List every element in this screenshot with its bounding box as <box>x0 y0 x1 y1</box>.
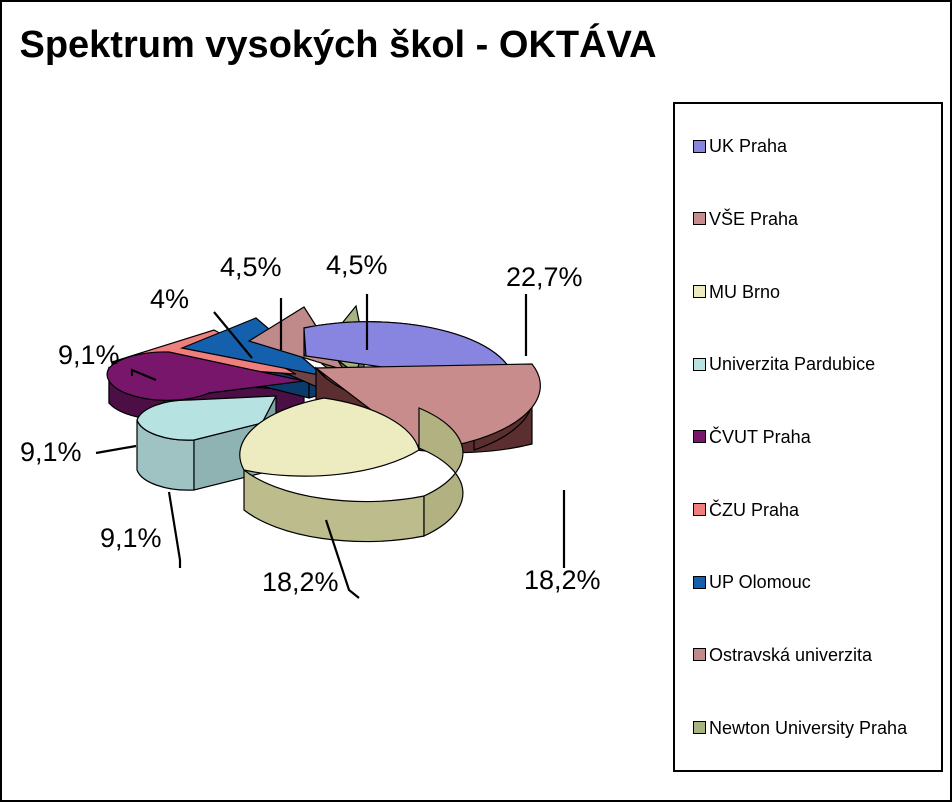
legend-item-uk-praha[interactable]: UK Praha <box>675 133 941 159</box>
slice-mu-brno <box>240 398 463 542</box>
legend-swatch-icon-uk-praha <box>693 140 706 153</box>
legend-item-cvut-praha[interactable]: ČVUT Praha <box>675 424 941 450</box>
legend-label-mu-brno: MU Brno <box>709 283 780 301</box>
legend-item-ostravska-univerzita[interactable]: Ostravská univerzita <box>675 642 941 668</box>
legend-label-czu-praha: ČZU Praha <box>709 501 799 519</box>
pie-chart-svg <box>4 98 672 798</box>
legend-label-uk-praha: UK Praha <box>709 137 787 155</box>
legend-swatch-icon-up-olomouc <box>693 576 706 589</box>
label-univerzita-pardubice: 9,1% <box>100 523 162 554</box>
legend-label-univerzita-pardubice: Univerzita Pardubice <box>709 355 875 373</box>
legend-label-newton-university: Newton University Praha <box>709 719 907 737</box>
legend-item-univerzita-pardubice[interactable]: Univerzita Pardubice <box>675 351 941 377</box>
legend-label-ostravska-univerzita: Ostravská univerzita <box>709 646 872 664</box>
label-mu-brno: 18,2% <box>262 567 339 598</box>
label-up-olomouc: 4% <box>150 284 189 315</box>
legend-swatch-icon-univerzita-pardubice <box>693 358 706 371</box>
legend-swatch-icon-mu-brno <box>693 285 706 298</box>
pie-chart-plot-area: 22,7% 18,2% 18,2% 9,1% 9,1% 9,1% 4% 4,5%… <box>4 98 672 798</box>
legend-label-vse-praha: VŠE Praha <box>709 210 798 228</box>
legend-swatch-icon-czu-praha <box>693 503 706 516</box>
legend-item-newton-university[interactable]: Newton University Praha <box>675 715 941 741</box>
chart-frame: Spektrum vysokých škol - OKTÁVA <box>0 0 952 802</box>
label-czu-praha: 9,1% <box>58 340 120 371</box>
legend-swatch-icon-cvut-praha <box>693 430 706 443</box>
legend-item-mu-brno[interactable]: MU Brno <box>675 279 941 305</box>
legend-swatch-icon-ostravska-univerzita <box>693 648 706 661</box>
legend-swatch-icon-newton-university <box>693 721 706 734</box>
label-ostravska-univerzita: 4,5% <box>220 252 282 283</box>
legend-swatch-icon-vse-praha <box>693 212 706 225</box>
legend-item-vse-praha[interactable]: VŠE Praha <box>675 206 941 232</box>
label-newton-university: 4,5% <box>326 250 388 281</box>
chart-legend: UK Praha VŠE Praha MU Brno Univerzita Pa… <box>673 102 943 772</box>
page-title: Spektrum vysokých škol - OKTÁVA <box>2 24 674 67</box>
legend-item-up-olomouc[interactable]: UP Olomouc <box>675 569 941 595</box>
legend-item-czu-praha[interactable]: ČZU Praha <box>675 497 941 523</box>
label-cvut-praha: 9,1% <box>20 437 82 468</box>
label-vse-praha: 18,2% <box>524 565 601 596</box>
label-uk-praha: 22,7% <box>506 262 583 293</box>
legend-label-up-olomouc: UP Olomouc <box>709 573 811 591</box>
legend-label-cvut-praha: ČVUT Praha <box>709 428 811 446</box>
